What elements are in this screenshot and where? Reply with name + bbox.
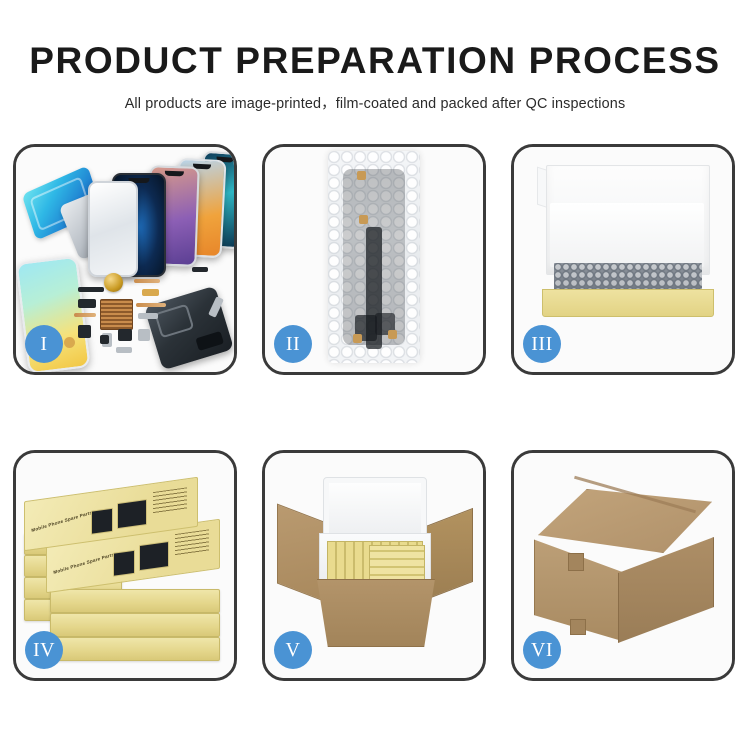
- box-window-icon: [113, 550, 135, 577]
- process-step-panel-6[interactable]: VI: [511, 450, 735, 681]
- speaker-coil-icon: [104, 273, 123, 292]
- component-icon: [78, 287, 104, 292]
- process-step-panel-1[interactable]: I: [13, 144, 237, 375]
- logic-board-grid-icon: [100, 299, 133, 330]
- component-icon: [192, 267, 208, 272]
- tempered-glass-icon: [88, 181, 138, 277]
- step-badge-4: IV: [25, 631, 63, 669]
- carton-tape-icon: [570, 619, 586, 635]
- component-icon: [78, 299, 96, 308]
- stacked-box: [50, 637, 220, 661]
- page-subtitle: All products are image-printed，film-coat…: [0, 81, 750, 113]
- carton-tape-icon: [568, 553, 584, 571]
- step-badge-6: VI: [523, 631, 561, 669]
- carton-body-icon: [309, 579, 443, 647]
- process-step-panel-2[interactable]: II: [262, 144, 486, 375]
- carton-top-face-icon: [538, 489, 712, 553]
- box-window-icon: [117, 499, 147, 529]
- flex-cable-icon: [136, 303, 166, 307]
- tape-icon: [388, 330, 397, 339]
- stacked-box: [50, 589, 220, 613]
- step-badge-1: I: [25, 325, 63, 363]
- box-label: Mobile Phone Spare Parts: [31, 510, 93, 533]
- step-badge-3: III: [523, 325, 561, 363]
- page-title: PRODUCT PREPARATION PROCESS: [0, 0, 750, 81]
- component-icon: [118, 329, 132, 341]
- box-spec-text: [175, 529, 209, 556]
- step-badge-5: V: [274, 631, 312, 669]
- process-step-grid: I II III: [13, 144, 737, 681]
- flex-cable-icon: [134, 279, 160, 283]
- tape-icon: [353, 334, 362, 343]
- button-icon: [64, 337, 75, 348]
- flex-cable-icon: [74, 313, 96, 317]
- tape-icon: [357, 171, 366, 180]
- box-label: Mobile Phone Spare Parts: [53, 552, 115, 575]
- camera-module-icon: [78, 325, 91, 338]
- page-header: PRODUCT PREPARATION PROCESS All products…: [0, 0, 750, 130]
- stacked-box: [50, 613, 220, 637]
- component-icon: [116, 347, 132, 353]
- notch-icon: [165, 171, 184, 177]
- foam-liner-icon: [550, 203, 704, 267]
- component-icon: [138, 313, 158, 319]
- process-step-panel-4[interactable]: Mobile Phone Spare Parts Mobile Phone Sp…: [13, 450, 237, 681]
- screw-icon: [100, 335, 109, 344]
- step-badge-2: II: [274, 325, 312, 363]
- box-front-panel-icon: [542, 289, 714, 317]
- box-spec-text: [153, 487, 187, 514]
- component-icon: [138, 329, 150, 341]
- wrapped-part-icon: [343, 169, 405, 345]
- tape-icon: [359, 215, 368, 224]
- carton-right-face-icon: [618, 537, 714, 643]
- yellow-boxes-inside-icon: [369, 545, 425, 583]
- connector-icon: [142, 289, 159, 296]
- process-step-panel-3[interactable]: III: [511, 144, 735, 375]
- box-window-icon: [91, 508, 113, 535]
- process-step-panel-5[interactable]: V: [262, 450, 486, 681]
- foam-lid-icon: [323, 477, 427, 541]
- box-window-icon: [139, 541, 169, 571]
